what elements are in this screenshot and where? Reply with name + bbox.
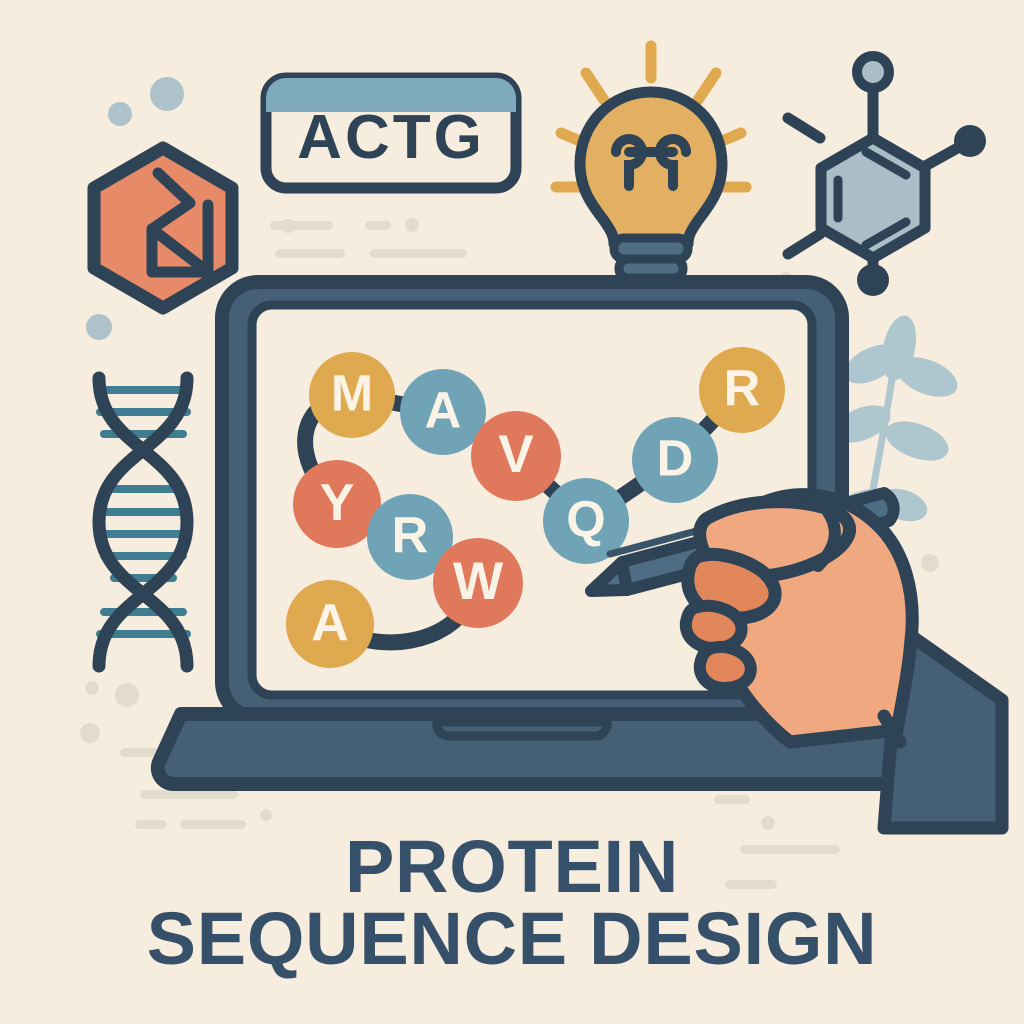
residue-letter: A <box>425 381 462 438</box>
actg-label: ACTG <box>297 103 485 172</box>
decor-dash <box>365 221 391 230</box>
decor-dash <box>725 880 777 889</box>
decor-dot <box>405 218 419 232</box>
residue-letter: Q <box>566 490 605 547</box>
decor-dot-blue <box>150 77 184 111</box>
amino-acid-valine: V <box>471 411 561 501</box>
residue-letter: A <box>311 594 349 652</box>
residue-letter: D <box>657 429 694 486</box>
decor-dot <box>260 809 272 821</box>
hexagon-logo-icon <box>94 148 232 308</box>
decor-dot-blue <box>108 102 132 126</box>
actg-card: ACTG <box>266 78 516 188</box>
residue-letter: V <box>498 425 534 484</box>
amino-acid-aspartate: D <box>632 417 718 503</box>
decor-dash <box>714 795 750 804</box>
finger-ring <box>700 647 751 688</box>
residue-letter: M <box>331 364 373 421</box>
residue-letter: Y <box>320 474 355 532</box>
laptop-trackpad-notch <box>437 722 607 736</box>
protein-sequence-design-illustration: ACTG <box>0 0 1024 1024</box>
decor-dot <box>80 723 100 743</box>
amino-acid-tryptophan: W <box>433 538 523 628</box>
decor-dot-blue <box>86 314 112 340</box>
decor-dash <box>135 820 167 829</box>
decor-dot <box>761 816 775 830</box>
residue-letter: W <box>453 552 504 611</box>
residue-letter: R <box>724 359 761 416</box>
amino-acid-alanine: A <box>400 369 486 455</box>
decor-dash <box>180 820 246 829</box>
decor-dot <box>921 554 939 572</box>
decor-dot <box>85 681 99 695</box>
decor-dash <box>740 845 840 854</box>
amino-acid-alanine-2: A <box>286 580 374 668</box>
decor-dot <box>115 683 139 707</box>
decor-dash <box>370 249 467 258</box>
illustration-root: ACTG <box>0 0 1024 1024</box>
decor-dash <box>270 221 333 230</box>
decor-dot <box>281 219 295 233</box>
decor-dash <box>275 249 345 258</box>
residue-letter: R <box>392 506 429 563</box>
decor-dash <box>140 790 238 799</box>
amino-acid-methionine: M <box>309 352 395 438</box>
amino-acid-arginine: R <box>699 347 785 433</box>
